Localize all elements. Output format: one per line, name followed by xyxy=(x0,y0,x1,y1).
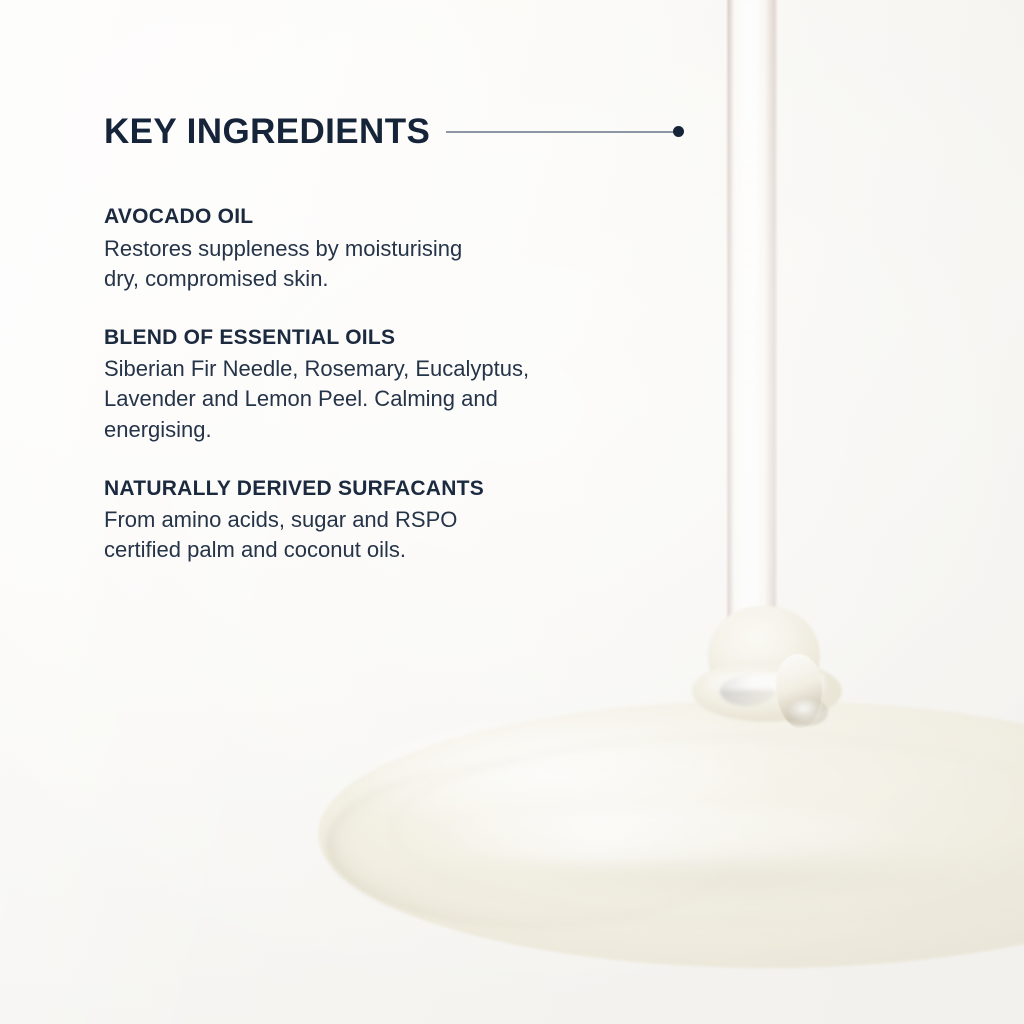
ingredient-heading: AVOCADO OIL xyxy=(104,203,664,232)
ingredient-heading: NATURALLY DERIVED SURFACANTS xyxy=(104,475,664,504)
ingredient-description: From amino acids, sugar and RSPO certifi… xyxy=(104,505,664,565)
ingredient-item: BLEND OF ESSENTIAL OILS Siberian Fir Nee… xyxy=(104,324,664,445)
ingredient-item: NATURALLY DERIVED SURFACANTS From amino … xyxy=(104,475,664,566)
ingredient-description: Siberian Fir Needle, Rosemary, Eucalyptu… xyxy=(104,354,664,444)
product-key-ingredients-card: KEY INGREDIENTS AVOCADO OIL Restores sup… xyxy=(0,0,1024,1024)
ingredient-item: AVOCADO OIL Restores suppleness by moist… xyxy=(104,203,664,294)
title-rule-line xyxy=(446,131,674,133)
ingredient-heading: BLEND OF ESSENTIAL OILS xyxy=(104,324,664,353)
ingredient-description: Restores suppleness by moisturising dry,… xyxy=(104,234,664,294)
page-title: KEY INGREDIENTS xyxy=(104,114,430,149)
title-rule-wrap xyxy=(446,126,704,137)
ingredient-list: AVOCADO OIL Restores suppleness by moist… xyxy=(104,203,664,566)
title-rule-dot-icon xyxy=(673,126,684,137)
page-title-row: KEY INGREDIENTS xyxy=(104,114,704,149)
